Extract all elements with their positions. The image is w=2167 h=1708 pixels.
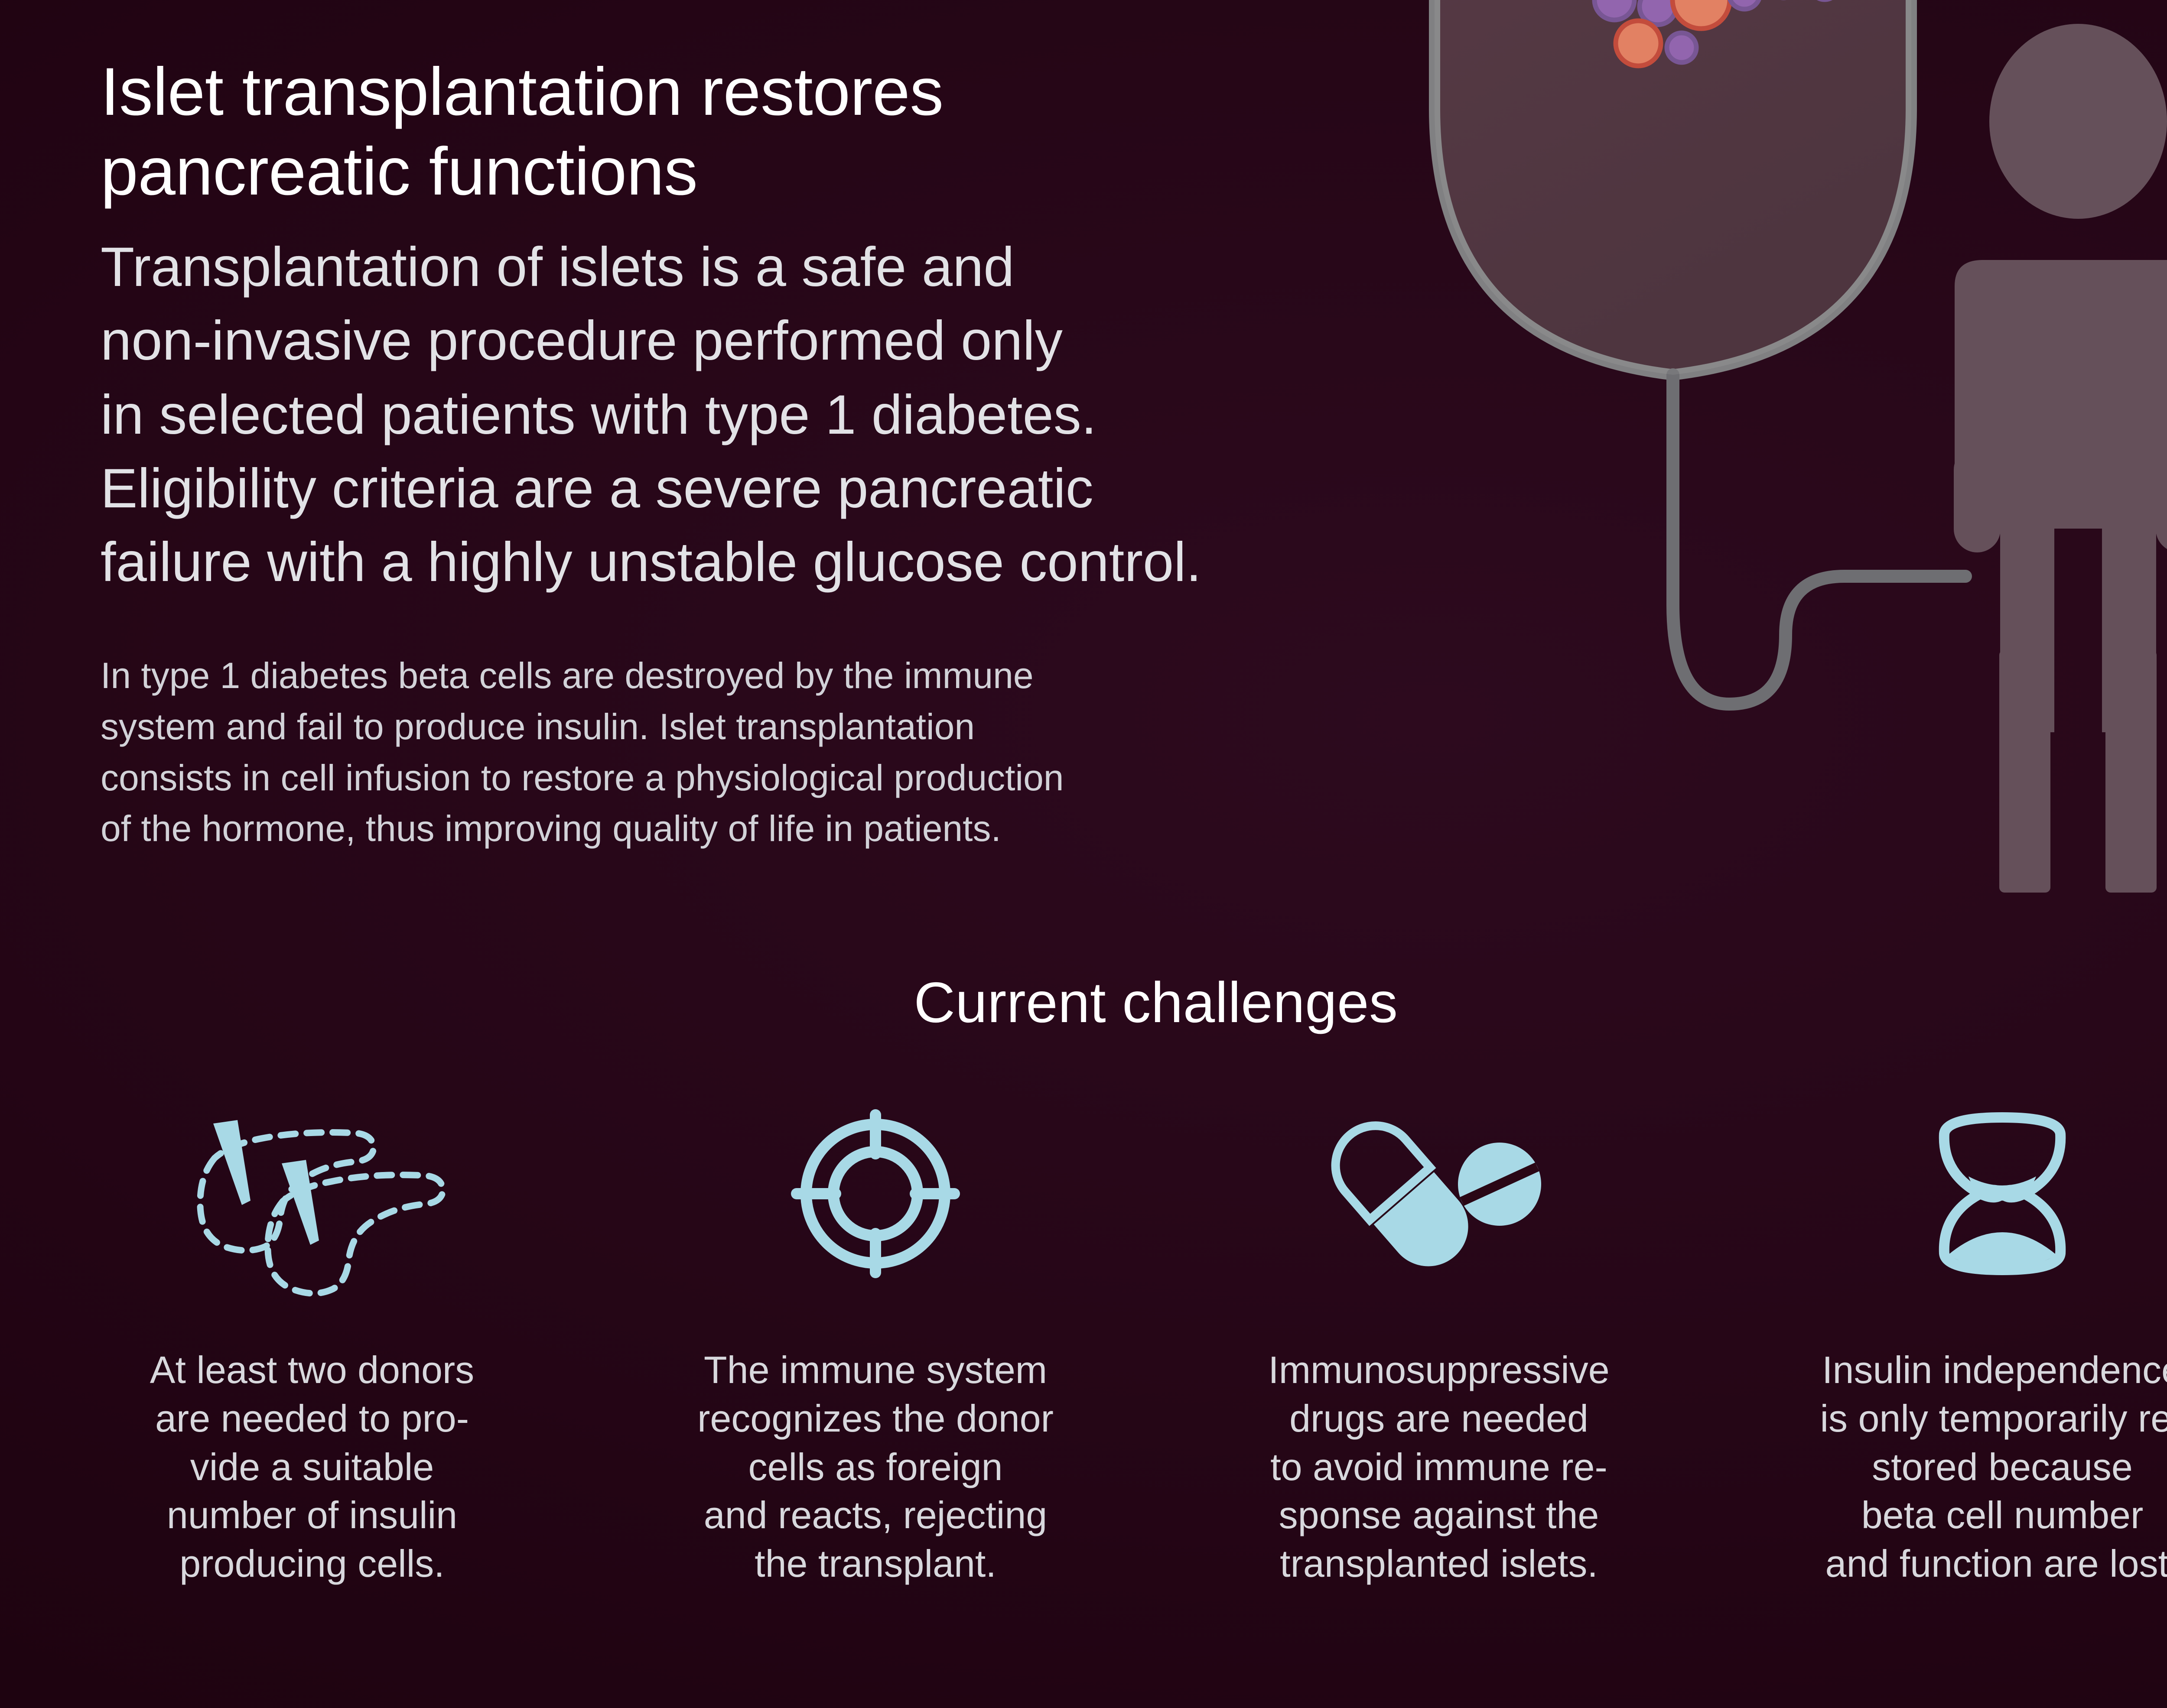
headline-line-2: pancreatic functions [101,132,1162,211]
intro-text-column: Islet transplantation restores pancreati… [101,52,1401,854]
challenge-item-temporary-independence: Insulin independence is only temporarily… [1747,1092,2167,1588]
challenges-heading: Current challenges [0,970,2167,1035]
challenge-item-immune-rejection: The immune system recognizes the donor c… [620,1092,1131,1588]
body-line-4: of the hormone, thus improving quality o… [101,803,1357,854]
infusion-tube [1673,375,1965,704]
page-title: Islet transplantation restores pancreati… [101,52,1162,211]
challenge-line: beta cell number [1773,1491,2167,1539]
pills-icon [1287,1092,1591,1296]
intro-line-4: Eligibility criteria are a severe pancre… [101,452,1292,526]
challenge-line: Insulin independence [1773,1346,2167,1394]
intro-line-1: Transplantation of islets is a safe and [101,231,1292,304]
challenge-line: cells as foreign [646,1443,1105,1491]
challenge-line: sponse against the [1209,1491,1669,1539]
challenge-line: is only temporarily re- [1773,1394,2167,1443]
intro-line-5: failure with a highly unstable glucose c… [101,526,1292,599]
challenge-line: producing cells. [82,1539,542,1588]
challenge-line: drugs are needed [1209,1394,1669,1443]
islet-infusion-illustration [1292,0,2167,1023]
challenge-line: The immune system [646,1346,1105,1394]
challenge-line: the transplant. [646,1539,1105,1588]
infographic-poster: Islet transplantation restores pancreati… [0,0,2167,1708]
challenge-line: stored because [1773,1443,2167,1491]
challenge-text: Insulin independence is only temporarily… [1773,1346,2167,1588]
challenge-line: transplanted islets. [1209,1539,1669,1588]
challenge-item-donors: At least two donors are needed to pro- v… [56,1092,568,1588]
bag-glass-highlight [1435,0,1911,375]
intro-line-2: non-invasive procedure performed only [101,304,1292,378]
hourglass-icon [1851,1092,2154,1296]
challenge-line: are needed to pro- [82,1394,542,1443]
body-line-1: In type 1 diabetes beta cells are destro… [101,650,1357,701]
challenge-line: to avoid immune re- [1209,1443,1669,1491]
challenges-grid: At least two donors are needed to pro- v… [56,1092,2167,1588]
challenge-text: Immunosuppressive drugs are needed to av… [1209,1346,1669,1588]
challenge-line: and function are lost. [1773,1539,2167,1588]
challenge-text: At least two donors are needed to pro- v… [82,1346,542,1588]
headline-line-1: Islet transplantation restores [101,52,1162,132]
challenge-line: recognizes the donor [646,1394,1105,1443]
tablet-shape [1458,1143,1541,1226]
challenge-line: vide a suitable [82,1443,542,1491]
body-line-2: system and fail to produce insulin. Isle… [101,701,1357,753]
challenge-item-immunosuppression: Immunosuppressive drugs are needed to av… [1183,1092,1695,1588]
challenge-line: At least two donors [82,1346,542,1394]
patient-figure [1954,24,2167,893]
challenge-text: The immune system recognizes the donor c… [646,1346,1105,1588]
intro-line-3: in selected patients with type 1 diabete… [101,378,1292,452]
challenge-line: Immunosuppressive [1209,1346,1669,1394]
body-line-3: consists in cell infusion to restore a p… [101,753,1357,804]
challenge-line: number of insulin [82,1491,542,1539]
challenge-line: and reacts, rejecting [646,1491,1105,1539]
intro-paragraph: Transplantation of islets is a safe and … [101,231,1292,599]
pancreas-needles-icon [160,1092,464,1296]
body-paragraph: In type 1 diabetes beta cells are destro… [101,650,1357,854]
target-crosshair-icon [724,1092,1027,1296]
